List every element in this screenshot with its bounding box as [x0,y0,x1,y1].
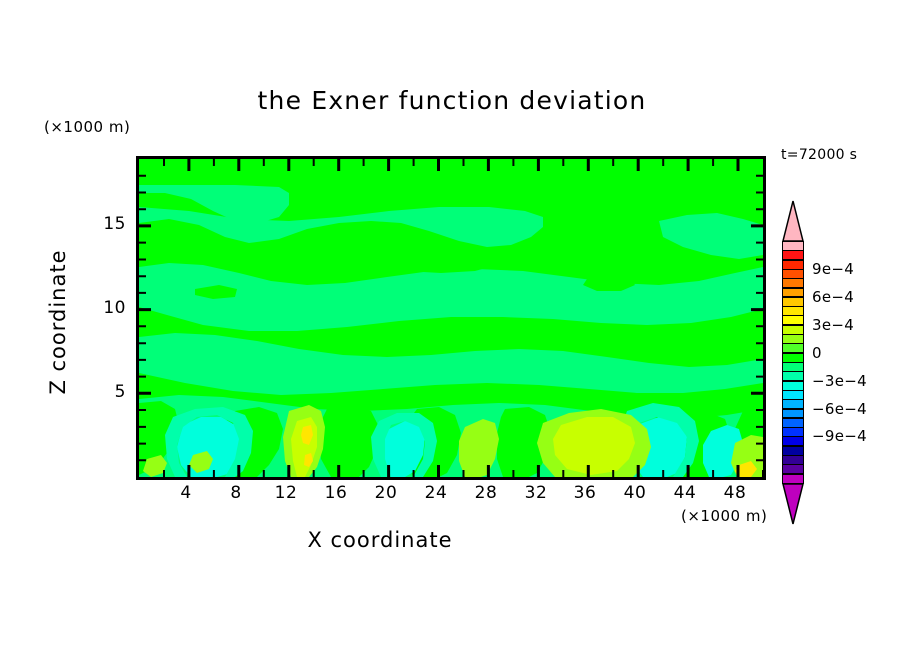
y-tick-label: 15 [86,214,126,234]
colorbar-tick-label: 6e−4 [812,288,854,306]
x-tick-label: 4 [166,483,206,503]
x-tick-label: 16 [316,483,356,503]
contour-plot-area [136,156,766,480]
x-axis-units-label: (×1000 m) [681,507,767,525]
x-tick-label: 28 [466,483,506,503]
y-tick-label: 5 [86,382,126,402]
y-axis-units-label: (×1000 m) [44,118,130,136]
colorbar-tick-label: 3e−4 [812,316,854,334]
time-stamp-annotation: t=72000 s [781,147,857,163]
x-tick-label: 44 [665,483,705,503]
y-axis-title: Z coordinate [46,202,70,442]
colorbar-tick-label: −9e−4 [812,427,867,445]
colorbar-tick-label: −3e−4 [812,372,867,390]
colorbar-bottom-arrow [782,483,804,525]
contour-boundary-layer [139,395,763,477]
page-title: the Exner function deviation [0,86,904,115]
colorbar-bands [782,241,804,483]
colorbar-tick-label: 9e−4 [812,260,854,278]
x-tick-label: 20 [366,483,406,503]
contour-field [139,159,763,477]
x-tick-label: 24 [416,483,456,503]
x-tick-label: 8 [216,483,256,503]
x-tick-label: 36 [565,483,605,503]
x-tick-label: 48 [715,483,755,503]
x-tick-label: 12 [266,483,306,503]
colorbar-tick-label: 0 [812,344,822,362]
x-tick-label: 32 [516,483,556,503]
y-tick-label: 10 [86,298,126,318]
colorbar-tick-label: −6e−4 [812,400,867,418]
x-tick-label: 40 [615,483,655,503]
colorbar-top-arrow [782,200,804,242]
x-axis-title: X coordinate [0,528,760,552]
